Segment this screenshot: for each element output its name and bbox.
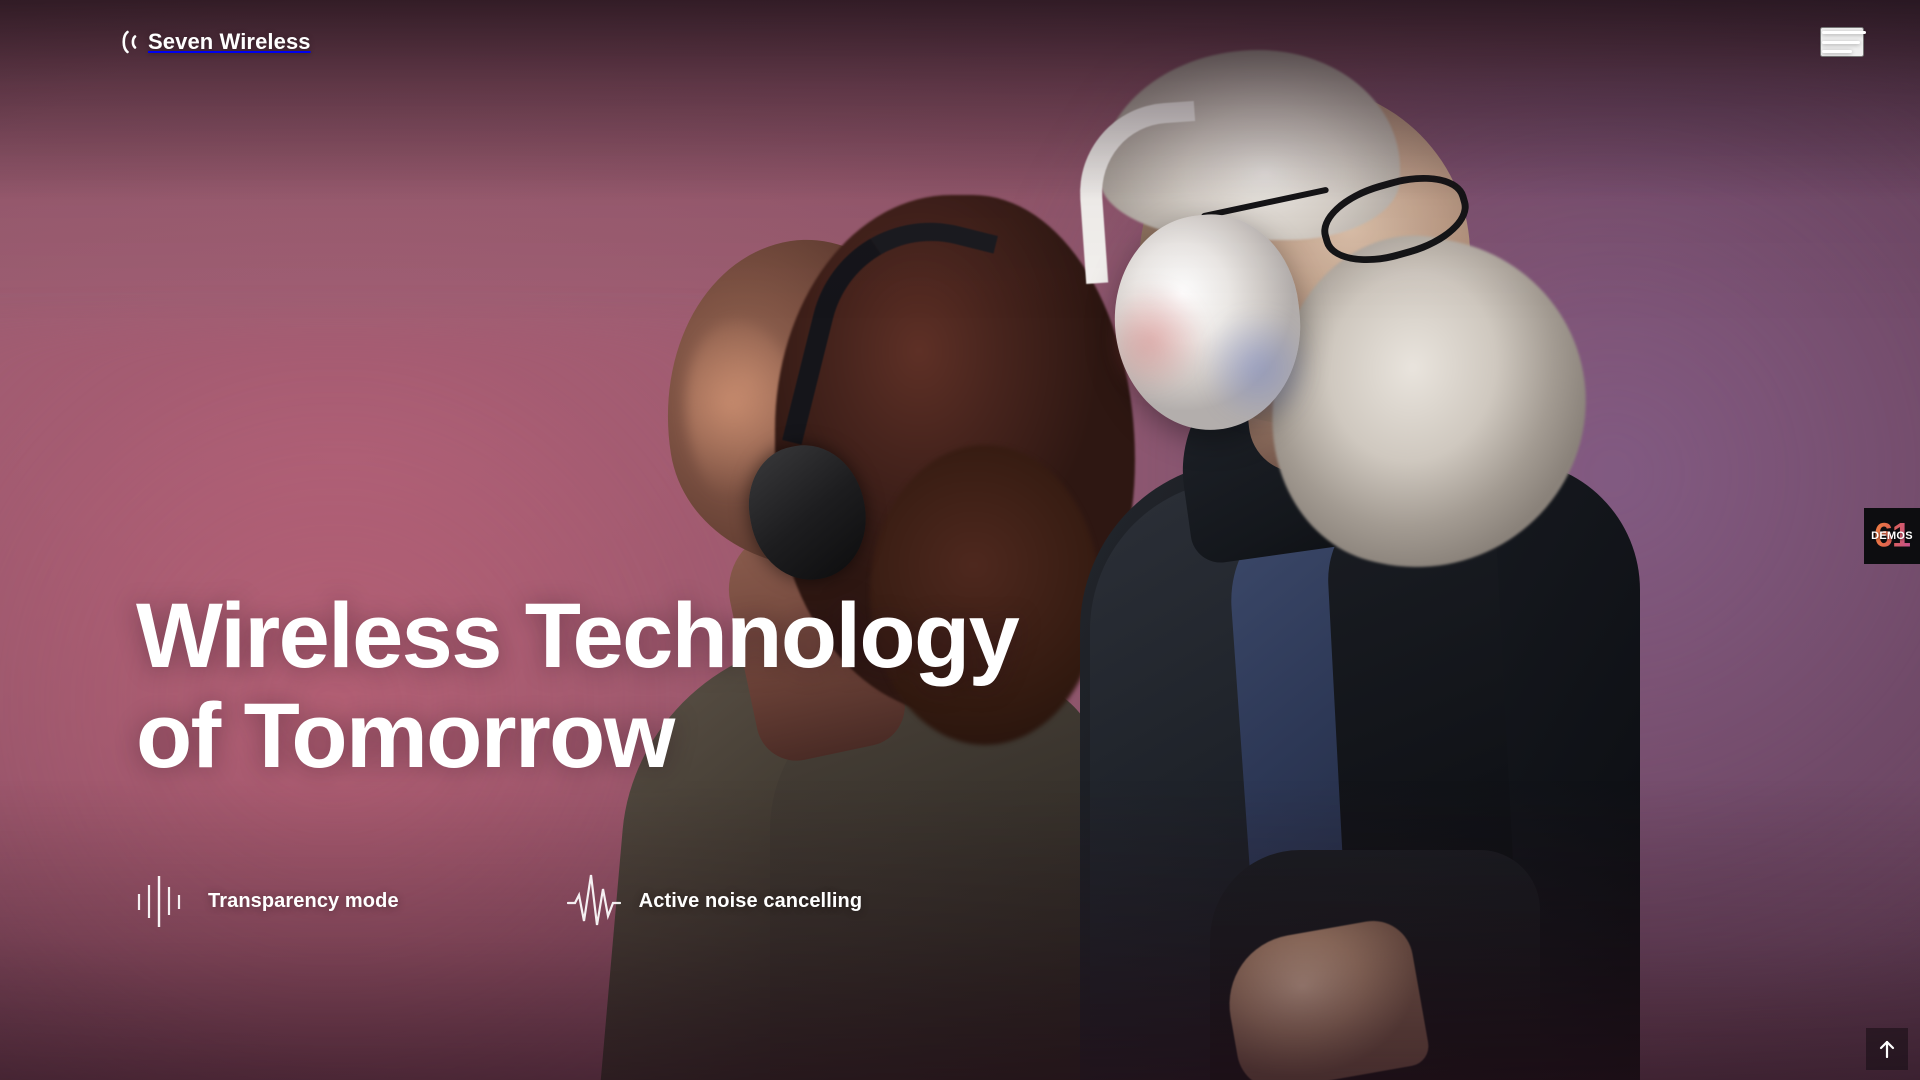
menu-line-1 [1822,31,1866,34]
hero-copy: Wireless Technology of Tomorrow [136,586,1136,787]
site-header: Seven Wireless [0,0,1920,84]
page-title: Wireless Technology of Tomorrow [136,586,1136,787]
equalizer-bars-icon [136,872,182,930]
wireless-signal-icon [116,28,138,56]
page-title-line-1: Wireless Technology [136,586,1136,686]
arrow-up-icon [1879,1040,1895,1058]
feature-label: Transparency mode [208,890,399,913]
feature-label: Active noise cancelling [639,890,863,913]
brand-name: Seven Wireless [148,29,311,55]
page-title-line-2: of Tomorrow [136,686,1136,786]
vignette-bottom [0,780,1920,1080]
waveform-spike-icon [567,872,613,930]
hamburger-menu-icon[interactable] [1820,27,1864,57]
hero-feature-list: Transparency mode Active noise cancellin… [136,872,862,930]
scroll-to-top-button[interactable] [1866,1028,1908,1070]
demos-badge[interactable]: 61 DEMOS [1864,508,1920,564]
demos-label: DEMOS [1871,530,1913,542]
menu-line-2 [1822,41,1860,44]
feature-transparency-mode[interactable]: Transparency mode [136,872,399,930]
menu-line-3 [1822,50,1852,53]
feature-active-noise-cancelling[interactable]: Active noise cancelling [567,872,863,930]
brand-logo-link[interactable]: Seven Wireless [116,28,311,56]
hero-page: Seven Wireless Wireless Technology of To… [0,0,1920,1080]
